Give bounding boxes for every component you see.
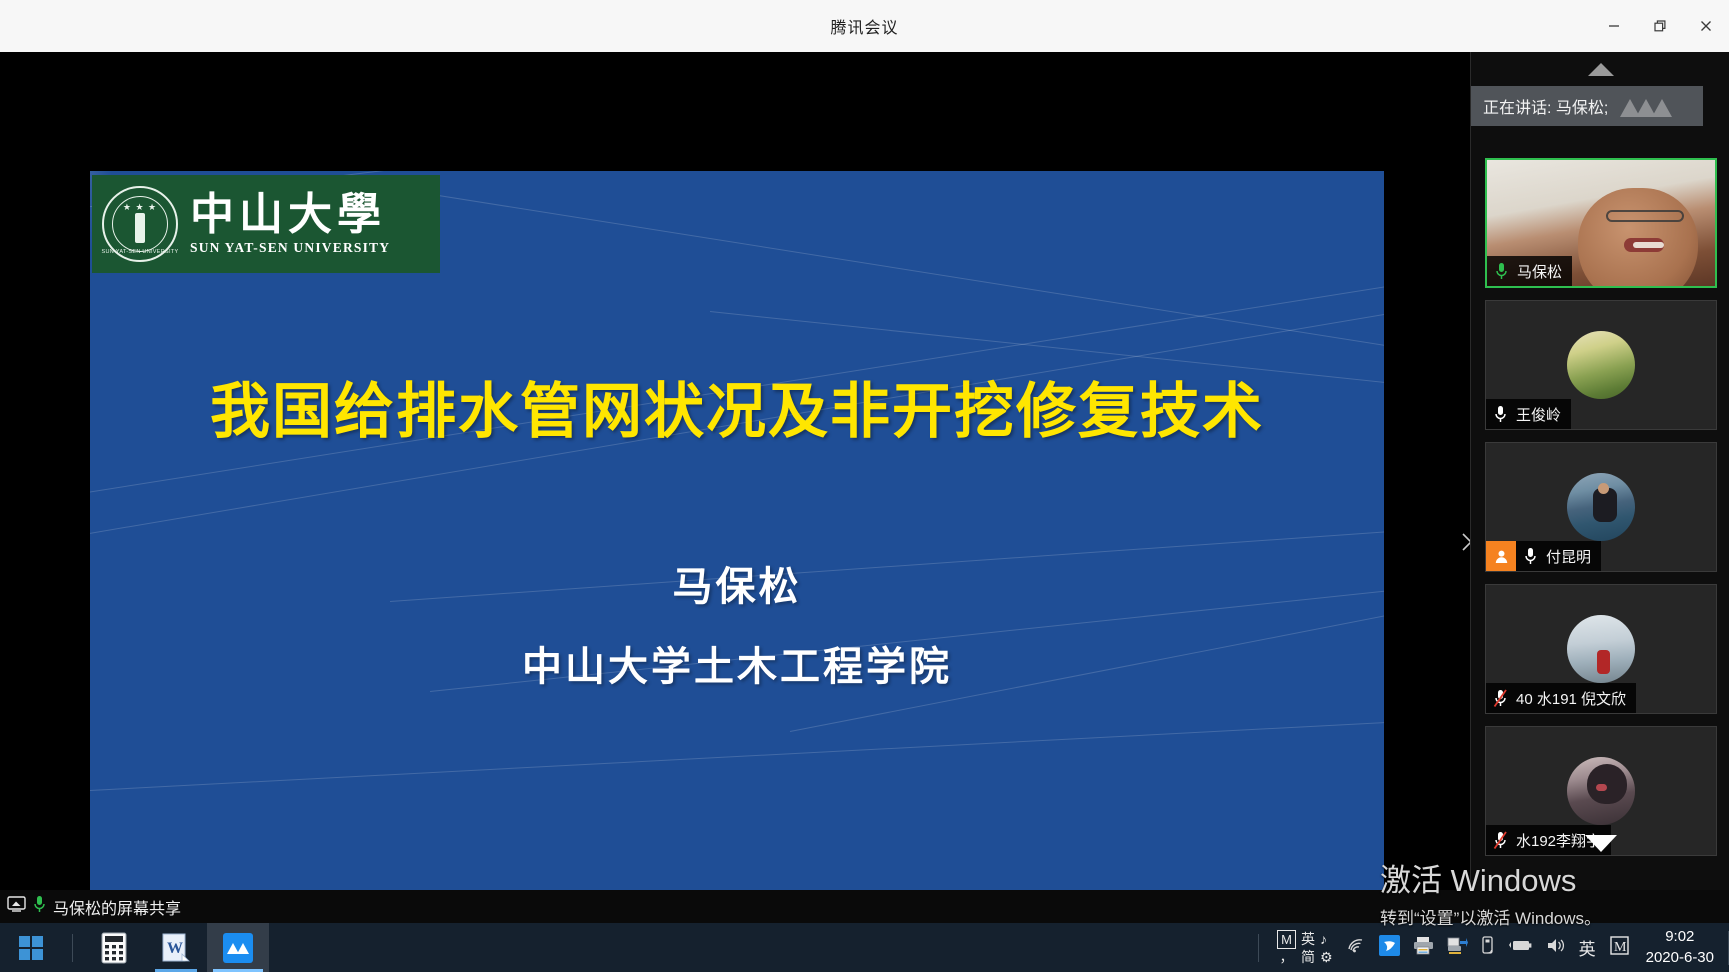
restore-icon[interactable]	[1637, 0, 1683, 52]
tray-divider-left	[1258, 934, 1259, 962]
slide-organization: 中山大学土木工程学院	[90, 634, 1384, 692]
avatar	[1567, 473, 1635, 541]
slide-presenter-name: 马保松	[90, 554, 1384, 612]
screen-share-icon	[7, 896, 26, 917]
tray-icon-group: 英 M	[1341, 935, 1636, 961]
battery-icon[interactable]	[1508, 937, 1533, 958]
scanner-icon[interactable]	[1447, 936, 1468, 960]
microphone-icon	[33, 895, 46, 919]
input-lang-icon[interactable]: 英	[1579, 935, 1596, 960]
avatar	[1567, 615, 1635, 683]
clock-time: 9:02	[1646, 927, 1714, 947]
meeting-stage: ★ ★ ★ SUN YAT-SEN UNIVERSITY 中山大學 SUN YA…	[0, 52, 1729, 890]
taskbar-clock[interactable]: 9:02 2020-6-30	[1636, 927, 1728, 968]
speaking-banner: 正在讲话: 马保松;	[1471, 86, 1703, 126]
participant-name: 王俊岭	[1514, 404, 1571, 425]
seal-arc-text: SUN YAT-SEN UNIVERSITY	[102, 249, 179, 255]
university-logo-text: 中山大學 SUN YAT-SEN UNIVERSITY	[190, 192, 390, 256]
tencent-meeting-icon[interactable]	[207, 923, 269, 972]
participant-tile[interactable]: 40 水191 倪文欣	[1485, 584, 1717, 714]
mcafee-icon[interactable]: M	[1609, 935, 1630, 961]
slide-background-lines	[90, 171, 1384, 904]
participant-nameplate: 马保松	[1487, 256, 1572, 286]
word-icon[interactable]: W	[145, 923, 207, 972]
participant-name: 马保松	[1515, 261, 1572, 282]
close-icon[interactable]	[1683, 0, 1729, 52]
windows-activation-watermark: 激活 Windows 转到“设置”以激活 Windows。	[1380, 864, 1720, 929]
participant-name: 付昆明	[1544, 546, 1601, 567]
wifi-icon[interactable]	[1347, 937, 1366, 958]
shared-slide: ★ ★ ★ SUN YAT-SEN UNIVERSITY 中山大學 SUN YA…	[90, 171, 1384, 904]
watermark-line-1: 激活 Windows	[1380, 864, 1720, 898]
windows-start-icon[interactable]	[0, 923, 62, 972]
participant-tile[interactable]: 付昆明	[1485, 442, 1717, 572]
participant-name: 40 水191 倪文欣	[1514, 688, 1636, 709]
window-controls	[1591, 0, 1729, 52]
avatar	[1567, 331, 1635, 399]
university-name-en: SUN YAT-SEN UNIVERSITY	[190, 240, 390, 256]
usb-icon[interactable]	[1481, 935, 1495, 960]
participant-nameplate: 40 水191 倪文欣	[1486, 683, 1636, 713]
volume-icon[interactable]	[1546, 937, 1566, 959]
participant-tile[interactable]: 马保松	[1485, 158, 1717, 288]
svg-text:M: M	[1614, 940, 1627, 955]
participant-rail: 正在讲话: 马保松;	[1470, 52, 1729, 890]
participant-tiles: 马保松 王俊岭	[1485, 96, 1717, 868]
microphone-icon	[1486, 405, 1514, 424]
microphone-icon	[1516, 547, 1544, 566]
university-logo-banner: ★ ★ ★ SUN YAT-SEN UNIVERSITY 中山大學 SUN YA…	[92, 175, 440, 273]
participant-nameplate: 付昆明	[1486, 541, 1601, 571]
ime-lang-label: 英	[1301, 932, 1315, 947]
ime-indicator[interactable]: M 英 ♪ ， 简 ⚙	[1269, 930, 1341, 965]
ime-moon-icon: ♪	[1320, 932, 1333, 947]
scroll-down-arrow[interactable]	[1471, 826, 1729, 860]
system-tray: M 英 ♪ ， 简 ⚙	[1248, 923, 1729, 972]
tencent-meeting-watermark-icon	[1616, 93, 1678, 119]
tencent-meeting-window: 腾讯会议	[0, 0, 1729, 972]
participant-tile[interactable]: 王俊岭	[1485, 300, 1717, 430]
window-title: 腾讯会议	[830, 14, 898, 38]
clock-date: 2020-6-30	[1646, 948, 1714, 968]
speaking-banner-text: 正在讲话: 马保松;	[1483, 94, 1608, 118]
seal-stars: ★ ★ ★	[123, 202, 157, 213]
title-bar: 腾讯会议	[0, 0, 1729, 52]
avatar	[1567, 757, 1635, 825]
windows-taskbar: W M 英 ♪ ， 简 ⚙	[0, 923, 1729, 972]
screen-share-label: 马保松的屏幕共享	[53, 895, 181, 919]
ime-punctuation-icon: ，	[1277, 950, 1296, 965]
university-name-cn: 中山大學	[190, 192, 390, 238]
blue-app-icon[interactable]	[1379, 935, 1400, 961]
participant-nameplate: 王俊岭	[1486, 399, 1571, 429]
host-badge-icon	[1486, 541, 1516, 571]
minimize-icon[interactable]	[1591, 0, 1637, 52]
watermark-line-2: 转到“设置”以激活 Windows。	[1380, 904, 1720, 929]
ime-settings-icon: ⚙	[1320, 950, 1333, 965]
printer-icon[interactable]	[1413, 936, 1434, 960]
microphone-icon	[1487, 262, 1515, 281]
scroll-up-arrow[interactable]	[1471, 52, 1729, 86]
ime-simplified-label: 简	[1301, 950, 1315, 965]
microphone-muted-icon	[1486, 689, 1514, 708]
slide-title: 我国给排水管网状况及非开挖修复技术	[90, 363, 1384, 450]
ime-logo-icon: M	[1277, 930, 1296, 949]
university-seal-icon: ★ ★ ★ SUN YAT-SEN UNIVERSITY	[102, 186, 178, 262]
taskbar-divider	[72, 934, 73, 962]
svg-text:W: W	[167, 940, 183, 957]
calculator-icon[interactable]	[83, 923, 145, 972]
